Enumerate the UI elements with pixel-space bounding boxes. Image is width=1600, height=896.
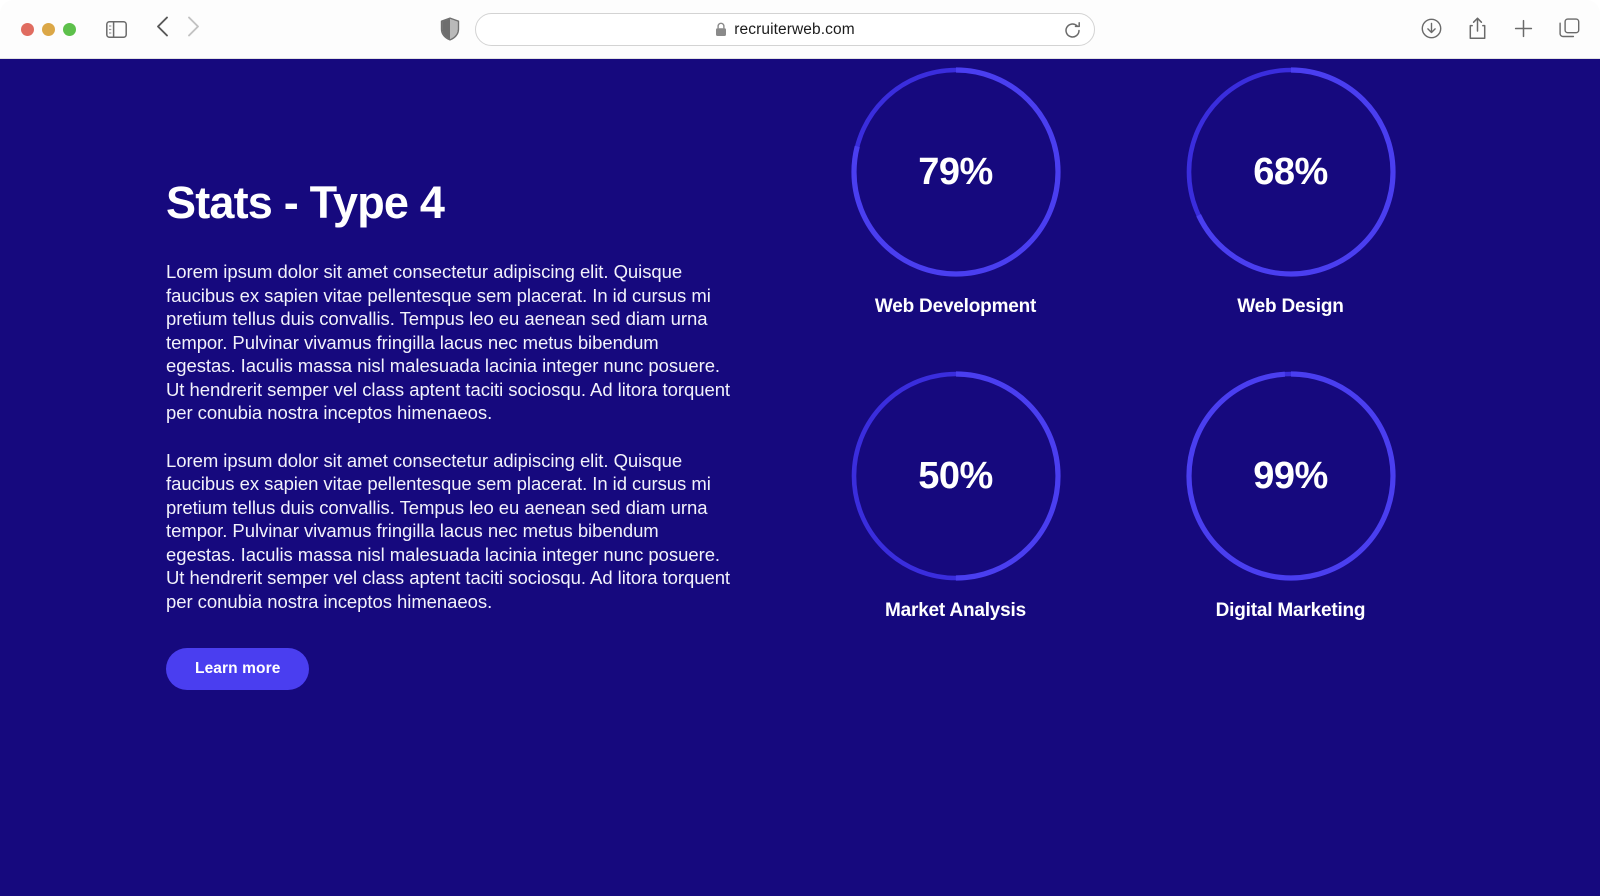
chevron-left-icon [156, 16, 169, 37]
stat-label-digital-marketing: Digital Marketing [1216, 600, 1366, 622]
downloads-button[interactable] [1420, 16, 1442, 40]
stats-grid: 79% Web Development 68% Web Design [788, 66, 1460, 622]
maximize-window-button[interactable] [63, 23, 76, 36]
hero-paragraph-2: Lorem ipsum dolor sit amet consectetur a… [166, 449, 733, 614]
reload-icon [1063, 21, 1082, 40]
minimize-window-button[interactable] [42, 23, 55, 36]
stat-card-web-development: 79% Web Development [788, 66, 1123, 318]
stat-card-digital-marketing: 99% Digital Marketing [1123, 370, 1458, 622]
new-tab-icon [1514, 19, 1533, 38]
privacy-shield-icon [440, 17, 460, 41]
hero-paragraph-1: Lorem ipsum dolor sit amet consectetur a… [166, 260, 733, 425]
forward-button[interactable] [187, 16, 200, 42]
address-bar[interactable]: recruiterweb.com [475, 13, 1095, 46]
close-window-button[interactable] [21, 23, 34, 36]
share-icon [1468, 17, 1487, 40]
progress-ring-market-analysis: 50% [850, 370, 1062, 582]
browser-window: recruiterweb.com [0, 0, 1600, 896]
stats-section: Stats - Type 4 Lorem ipsum dolor sit ame… [0, 59, 1600, 896]
progress-ring-digital-marketing: 99% [1185, 370, 1397, 582]
stat-label-web-development: Web Development [875, 296, 1036, 318]
window-controls [21, 23, 76, 36]
stat-card-web-design: 68% Web Design [1123, 66, 1458, 318]
stat-label-web-design: Web Design [1237, 296, 1343, 318]
stat-value-digital-marketing: 99% [1185, 370, 1397, 582]
url-text: recruiterweb.com [734, 21, 854, 39]
stat-label-market-analysis: Market Analysis [885, 600, 1026, 622]
stats-column: 79% Web Development 68% Web Design [760, 59, 1460, 622]
address-bar-content: recruiterweb.com [715, 21, 854, 39]
new-tab-button[interactable] [1512, 16, 1534, 40]
stat-value-web-development: 79% [850, 66, 1062, 278]
navigation-buttons [156, 16, 200, 42]
stat-card-market-analysis: 50% Market Analysis [788, 370, 1123, 622]
toolbar-right-buttons [1420, 16, 1580, 40]
progress-ring-web-design: 68% [1185, 66, 1397, 278]
browser-toolbar: recruiterweb.com [0, 0, 1600, 59]
tab-overview-button[interactable] [1558, 16, 1580, 40]
privacy-report-button[interactable] [440, 17, 460, 41]
chevron-right-icon [187, 16, 200, 37]
tab-overview-icon [1559, 18, 1580, 38]
hero-text-column: Stats - Type 4 Lorem ipsum dolor sit ame… [0, 59, 760, 690]
progress-ring-web-development: 79% [850, 66, 1062, 278]
stat-value-market-analysis: 50% [850, 370, 1062, 582]
stat-value-web-design: 68% [1185, 66, 1397, 278]
back-button[interactable] [156, 16, 169, 42]
lock-icon [715, 22, 727, 37]
webpage-viewport: Stats - Type 4 Lorem ipsum dolor sit ame… [0, 59, 1600, 896]
reload-button[interactable] [1063, 21, 1082, 40]
sidebar-toggle-button[interactable] [105, 20, 127, 39]
downloads-icon [1421, 18, 1442, 39]
sidebar-icon [106, 21, 127, 38]
share-button[interactable] [1466, 16, 1488, 40]
page-title: Stats - Type 4 [166, 179, 760, 226]
learn-more-button[interactable]: Learn more [166, 648, 309, 690]
